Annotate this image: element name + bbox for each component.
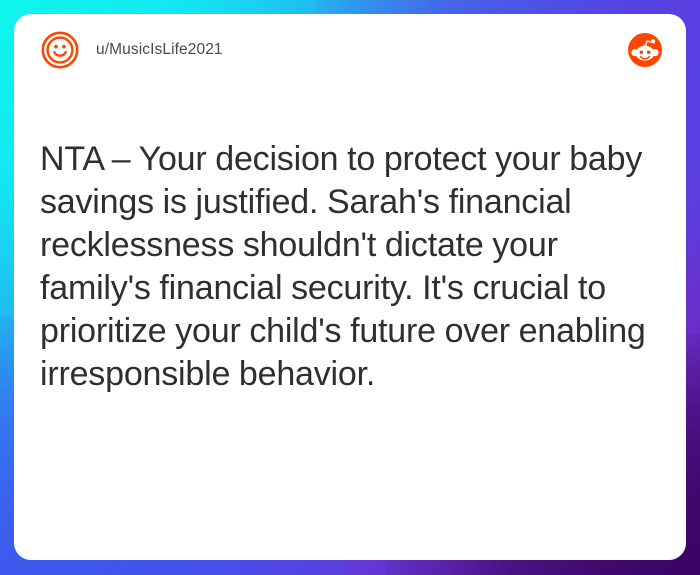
reddit-post-card: u/MusicIsLife2021 NTA – Your decision to… [14,14,686,560]
smiley-face-avatar-icon[interactable] [40,30,80,70]
post-body: NTA – Your decision to protect your baby… [14,86,686,396]
post-header: u/MusicIsLife2021 [14,14,686,86]
reddit-snoo-logo-icon[interactable] [628,33,662,67]
username-label: u/MusicIsLife2021 [96,41,223,59]
post-text: NTA – Your decision to protect your baby… [40,138,658,396]
